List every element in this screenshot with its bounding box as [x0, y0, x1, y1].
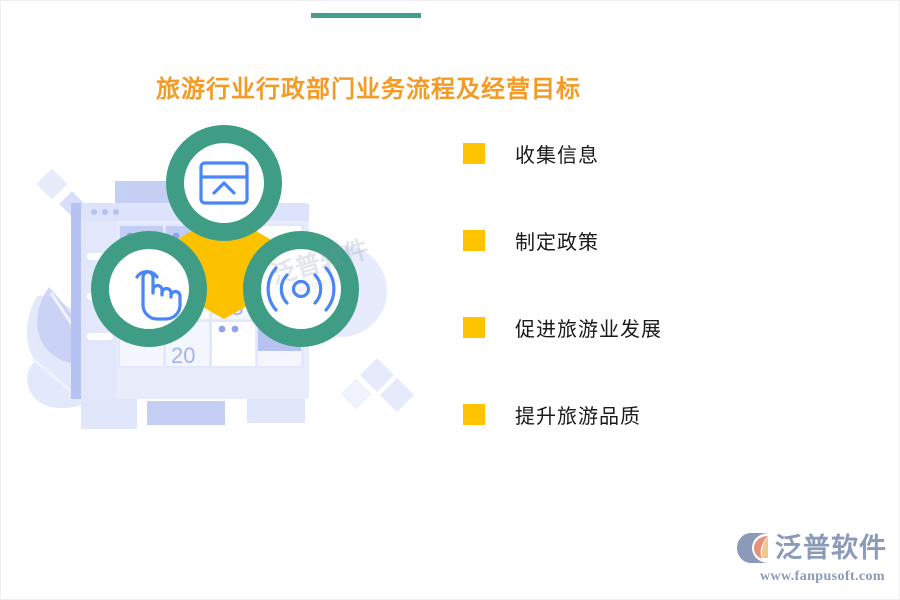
list-item[interactable]: 制定政策: [463, 218, 863, 262]
page-title: 旅游行业行政部门业务流程及经营目标: [1, 69, 736, 104]
fanpu-logo-mark: [735, 531, 771, 565]
decorative-diamonds-right: [340, 358, 414, 412]
objectives-list: 收集信息 制定政策 促进旅游业发展 提升旅游品质: [463, 131, 863, 436]
square-marker-icon: [463, 143, 485, 164]
list-item[interactable]: 提升旅游品质: [463, 392, 863, 436]
list-item-label: 促进旅游业发展: [515, 313, 662, 342]
process-illustration: 7 15 18 20: [19, 121, 429, 441]
list-item[interactable]: 收集信息: [463, 131, 863, 175]
calendar-number: 20: [171, 343, 195, 368]
logo-row: 泛普软件: [735, 529, 885, 567]
list-item-label: 提升旅游品质: [515, 400, 641, 429]
square-marker-icon: [463, 230, 485, 251]
list-item[interactable]: 促进旅游业发展: [463, 305, 863, 349]
list-item-label: 收集信息: [515, 139, 599, 168]
node-bottom-left: [91, 231, 207, 347]
top-accent-rule: [311, 13, 421, 18]
logo-brand-text: 泛普软件: [775, 535, 887, 562]
square-marker-icon: [463, 317, 485, 338]
list-item-label: 制定政策: [515, 226, 599, 255]
slide-canvas: 旅游行业行政部门业务流程及经营目标: [0, 0, 900, 600]
node-top: [166, 125, 282, 241]
brand-logo[interactable]: 泛普软件 www.fanpusoft.com: [735, 529, 885, 589]
square-marker-icon: [463, 404, 485, 425]
logo-url-text: www.fanpusoft.com: [735, 569, 885, 585]
